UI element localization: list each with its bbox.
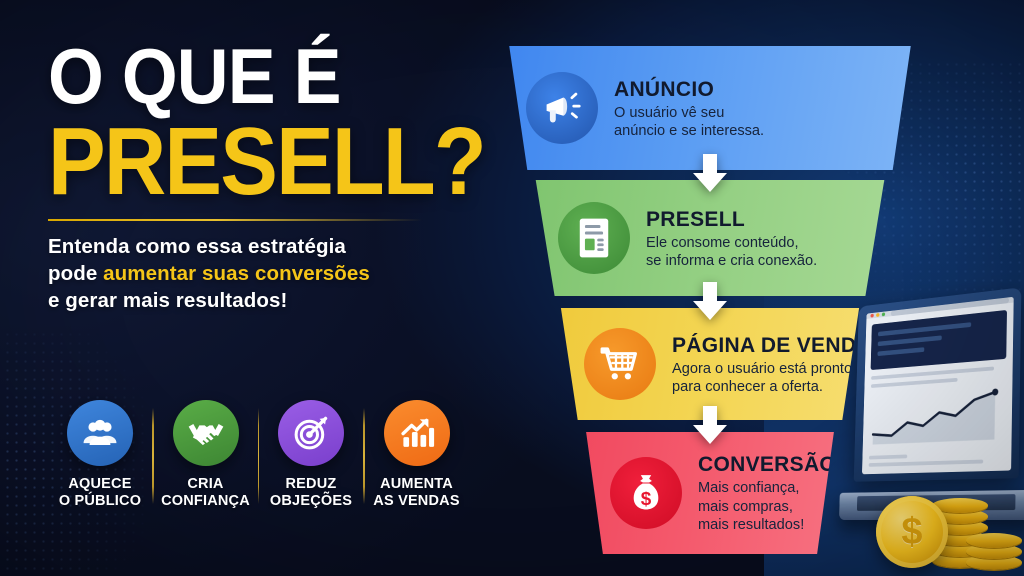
infographic-canvas: $ O QUE É PRESELL? Entenda como essa est… [0, 0, 1024, 576]
headline-line-1: O QUE É [48, 42, 464, 111]
funnel-step-desc-line-2: se informa e cria conexão. [646, 252, 817, 270]
document-icon [558, 202, 630, 274]
benefit-label-line-1: REDUZ [270, 476, 352, 493]
funnel-step-desc-line-2: para conhecer a oferta. [672, 378, 886, 396]
funnel-arrow-3 [689, 406, 731, 446]
growth-chart-icon [384, 400, 450, 466]
funnel-step-title: PÁGINA DE VENDAS [672, 334, 886, 357]
subtitle-highlight: aumentar suas conversões [103, 262, 370, 285]
benefit-label-line-1: AUMENTA [373, 476, 459, 493]
funnel-step-presell[interactable]: PRESELL Ele consome conteúdo, se informa… [500, 180, 920, 296]
handshake-icon [173, 400, 239, 466]
shopping-cart-icon [584, 328, 656, 400]
benefit-item-aumenta-as-vendas[interactable]: AUMENTA AS VENDAS [365, 400, 469, 511]
benefit-item-aquece-o-publico[interactable]: AQUECE O PÚBLICO [48, 400, 152, 511]
target-icon [278, 400, 344, 466]
funnel-step-desc-line-1: Agora o usuário está pronto [672, 360, 886, 378]
people-group-icon [67, 400, 133, 466]
funnel-step-title: CONVERSÃO [698, 453, 836, 476]
funnel-step-desc: Ele consome conteúdo, se informa e cria … [646, 234, 817, 271]
funnel-step-text: PÁGINA DE VENDAS Agora o usuário está pr… [672, 332, 886, 397]
svg-text:$: $ [641, 489, 652, 510]
funnel-step-text: CONVERSÃO Mais confiança, mais compras, … [698, 451, 836, 534]
megaphone-icon [526, 72, 598, 144]
funnel-step-desc: Agora o usuário está pronto para conhece… [672, 360, 886, 397]
funnel-step-text: PRESELL Ele consome conteúdo, se informa… [646, 206, 817, 271]
sales-funnel: ANÚNCIO O usuário vê seu anúncio e se in… [500, 46, 920, 551]
benefit-item-cria-confianca[interactable]: CRIA CONFIANÇA [154, 400, 258, 511]
subtitle-line-2: pode aumentar suas conversões [48, 260, 500, 287]
benefit-item-reduz-objecoes[interactable]: REDUZ OBJEÇÕES [259, 400, 363, 511]
headline-block: O QUE É PRESELL? Entenda como essa estra… [48, 42, 500, 314]
benefit-label-line-2: CONFIANÇA [161, 493, 250, 510]
benefit-label: AQUECE O PÚBLICO [59, 476, 141, 511]
funnel-step-title: PRESELL [646, 208, 817, 231]
funnel-arrow-2 [689, 282, 731, 322]
gold-divider [48, 219, 423, 221]
funnel-step-desc-line-1: O usuário vê seu [614, 104, 764, 122]
funnel-step-title: ANÚNCIO [614, 78, 764, 101]
funnel-step-desc-line-1: Ele consome conteúdo, [646, 234, 817, 252]
funnel-step-pagina-de-vendas[interactable]: PÁGINA DE VENDAS Agora o usuário está pr… [500, 308, 920, 420]
funnel-step-desc: Mais confiança, mais compras, mais resul… [698, 479, 836, 534]
funnel-step-desc-line-2: mais compras, [698, 498, 836, 516]
benefit-label-line-1: CRIA [161, 476, 250, 493]
funnel-step-anuncio[interactable]: ANÚNCIO O usuário vê seu anúncio e se in… [500, 46, 920, 170]
benefit-label-line-1: AQUECE [59, 476, 141, 493]
funnel-step-desc: O usuário vê seu anúncio e se interessa. [614, 104, 764, 141]
subtitle-line-1: Entenda como essa estratégia [48, 233, 500, 260]
funnel-step-conversao[interactable]: $ CONVERSÃO Mais confiança, mais compras… [500, 432, 920, 554]
money-bag-icon: $ [610, 457, 682, 529]
benefit-label-line-2: OBJEÇÕES [270, 493, 352, 510]
benefit-label-line-2: AS VENDAS [373, 493, 459, 510]
benefit-label: REDUZ OBJEÇÕES [270, 476, 352, 511]
headline-line-2: PRESELL? [48, 119, 455, 205]
funnel-step-desc-line-3: mais resultados! [698, 516, 836, 534]
subtitle-line-2-prefix: pode [48, 262, 103, 285]
subtitle-line-3: e gerar mais resultados! [48, 287, 500, 314]
subtitle-block: Entenda como essa estratégia pode aument… [48, 233, 500, 314]
funnel-arrow-1 [689, 154, 731, 194]
benefits-row: AQUECE O PÚBLICO CRIA CONFIANÇA [48, 400, 508, 511]
funnel-step-text: ANÚNCIO O usuário vê seu anúncio e se in… [614, 76, 764, 141]
funnel-step-desc-line-2: anúncio e se interessa. [614, 122, 764, 140]
benefit-label: CRIA CONFIANÇA [161, 476, 250, 511]
funnel-step-desc-line-1: Mais confiança, [698, 479, 836, 497]
benefit-label-line-2: O PÚBLICO [59, 493, 141, 510]
benefit-label: AUMENTA AS VENDAS [373, 476, 459, 511]
